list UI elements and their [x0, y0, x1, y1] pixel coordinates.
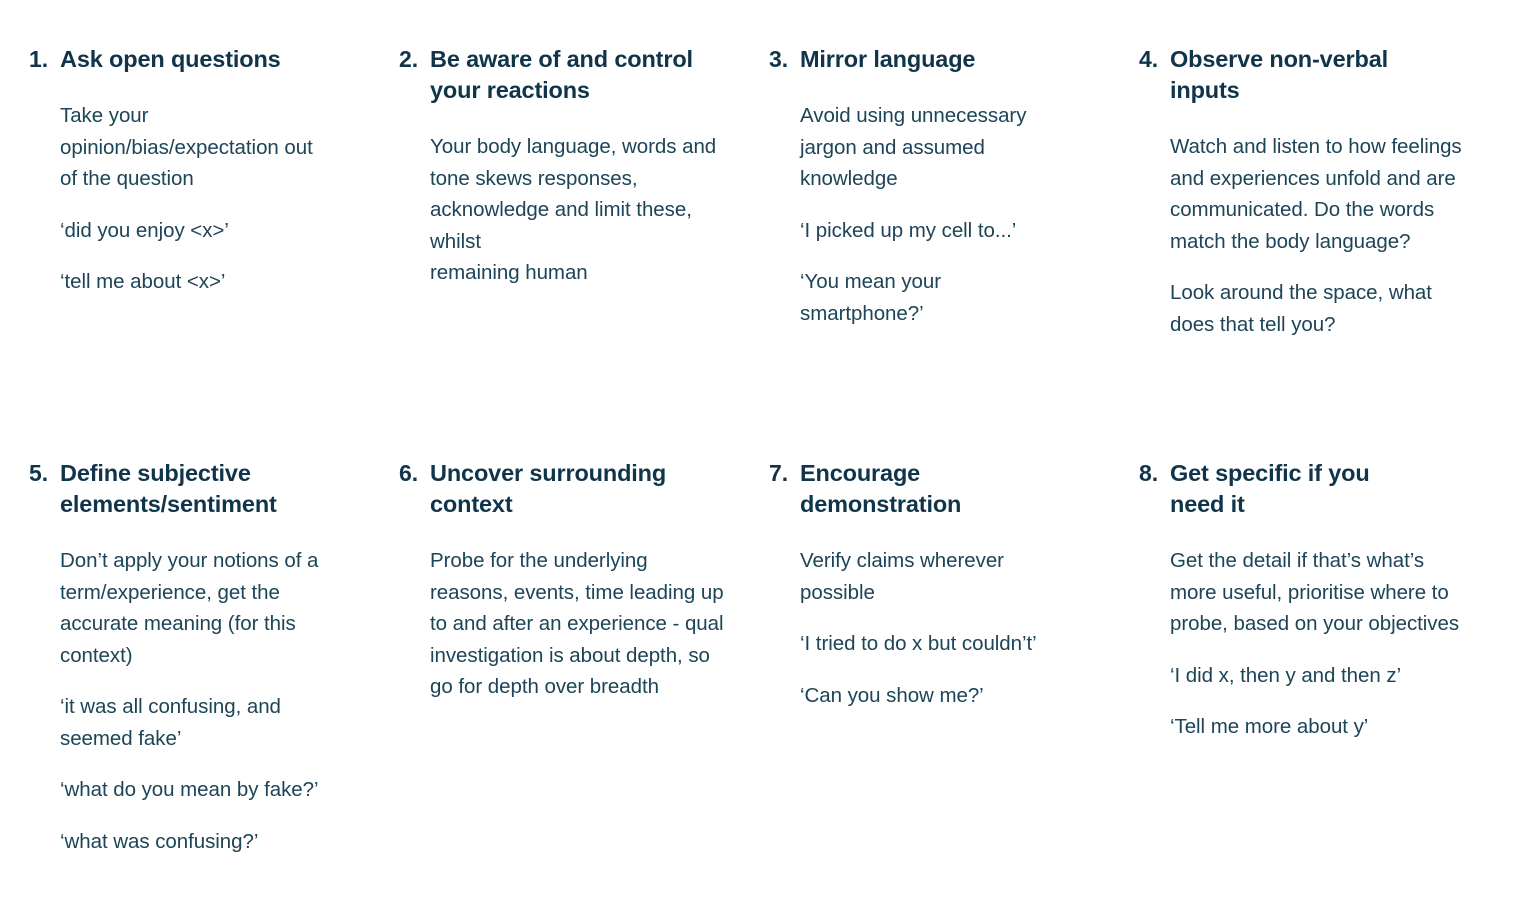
tip-title-3: Mirror language — [800, 44, 1080, 75]
tip-card-7: 7. Encourage demonstration Verify claims… — [769, 458, 1110, 857]
tip-paragraphs-5: Don’t apply your notions of a term/exper… — [60, 545, 360, 857]
tip-paragraph: ‘what do you mean by fake?’ — [60, 774, 350, 806]
tip-body-5: Define subjective elements/sentiment Don… — [60, 458, 360, 857]
tip-body-3: Mirror language Avoid using unnecessary … — [800, 44, 1100, 329]
tips-grid: 1. Ask open questions Take your opinion/… — [0, 44, 1532, 857]
tip-paragraph: Watch and listen to how feelings and exp… — [1170, 131, 1470, 257]
tip-paragraph: ‘what was confusing?’ — [60, 826, 350, 858]
tip-paragraphs-6: Probe for the underlying reasons, events… — [430, 545, 730, 703]
tip-number-3: 3. — [769, 44, 800, 329]
tip-number-1: 1. — [29, 44, 60, 298]
tip-card-4: 4. Observe non-verbal inputs Watch and l… — [1139, 44, 1480, 458]
tip-number-2: 2. — [399, 44, 430, 289]
tip-paragraph: ‘tell me about <x>’ — [60, 266, 318, 298]
tip-paragraphs-8: Get the detail if that’s what’s more use… — [1170, 545, 1470, 743]
tip-paragraph: Get the detail if that’s what’s more use… — [1170, 545, 1470, 640]
tip-number-7: 7. — [769, 458, 800, 711]
tip-title-2: Be aware of and control your reactions — [430, 44, 730, 106]
tip-title-1: Ask open questions — [60, 44, 350, 75]
tip-title-6: Uncover surrounding context — [430, 458, 670, 520]
tips-board: 1. Ask open questions Take your opinion/… — [0, 0, 1532, 900]
tip-paragraph: Avoid using unnecessary jargon and assum… — [800, 100, 1070, 195]
tip-paragraph: Don’t apply your notions of a term/exper… — [60, 545, 350, 671]
tip-paragraph: Look around the space, what does that te… — [1170, 277, 1470, 340]
tip-paragraph: ‘Can you show me?’ — [800, 680, 1050, 712]
tip-title-7: Encourage demonstration — [800, 458, 1020, 520]
tip-paragraph: ‘did you enjoy <x>’ — [60, 215, 318, 247]
tip-paragraph: ‘I picked up my cell to...’ — [800, 215, 1070, 247]
tip-paragraphs-1: Take your opinion/bias/expectation out o… — [60, 100, 360, 298]
tip-body-8: Get specific if you need it Get the deta… — [1170, 458, 1470, 743]
tip-card-8: 8. Get specific if you need it Get the d… — [1139, 458, 1480, 857]
tip-card-6: 6. Uncover surrounding context Probe for… — [399, 458, 740, 857]
tip-body-1: Ask open questions Take your opinion/bia… — [60, 44, 360, 298]
tip-number-4: 4. — [1139, 44, 1170, 340]
tip-card-5: 5. Define subjective elements/sentiment … — [29, 458, 370, 857]
tip-paragraph: Your body language, words and tone skews… — [430, 131, 725, 289]
tip-paragraph: ‘it was all confusing, and seemed fake’ — [60, 691, 350, 754]
tip-number-6: 6. — [399, 458, 430, 703]
tip-title-8: Get specific if you need it — [1170, 458, 1370, 520]
tip-paragraphs-4: Watch and listen to how feelings and exp… — [1170, 131, 1470, 340]
tip-number-8: 8. — [1139, 458, 1170, 743]
tip-paragraph: Probe for the underlying reasons, events… — [430, 545, 730, 703]
tip-paragraph: ‘I did x, then y and then z’ — [1170, 660, 1470, 692]
tip-paragraph: ‘I tried to do x but couldn’t’ — [800, 628, 1050, 660]
tip-paragraphs-2: Your body language, words and tone skews… — [430, 131, 730, 289]
tip-paragraphs-7: Verify claims wherever possible ‘I tried… — [800, 545, 1100, 711]
tip-title-5: Define subjective elements/sentiment — [60, 458, 315, 520]
tip-card-3: 3. Mirror language Avoid using unnecessa… — [769, 44, 1110, 458]
tip-paragraphs-3: Avoid using unnecessary jargon and assum… — [800, 100, 1100, 329]
tip-body-7: Encourage demonstration Verify claims wh… — [800, 458, 1100, 711]
tip-paragraph: Verify claims wherever possible — [800, 545, 1050, 608]
tip-number-5: 5. — [29, 458, 60, 857]
tip-body-6: Uncover surrounding context Probe for th… — [430, 458, 730, 703]
tip-body-4: Observe non-verbal inputs Watch and list… — [1170, 44, 1470, 340]
tip-paragraph: Take your opinion/bias/expectation out o… — [60, 100, 318, 195]
tip-body-2: Be aware of and control your reactions Y… — [430, 44, 730, 289]
tip-card-1: 1. Ask open questions Take your opinion/… — [29, 44, 370, 458]
tip-card-2: 2. Be aware of and control your reaction… — [399, 44, 740, 458]
tip-paragraph: ‘Tell me more about y’ — [1170, 711, 1470, 743]
tip-title-4: Observe non-verbal inputs — [1170, 44, 1460, 106]
tip-paragraph: ‘You mean your smartphone?’ — [800, 266, 1070, 329]
